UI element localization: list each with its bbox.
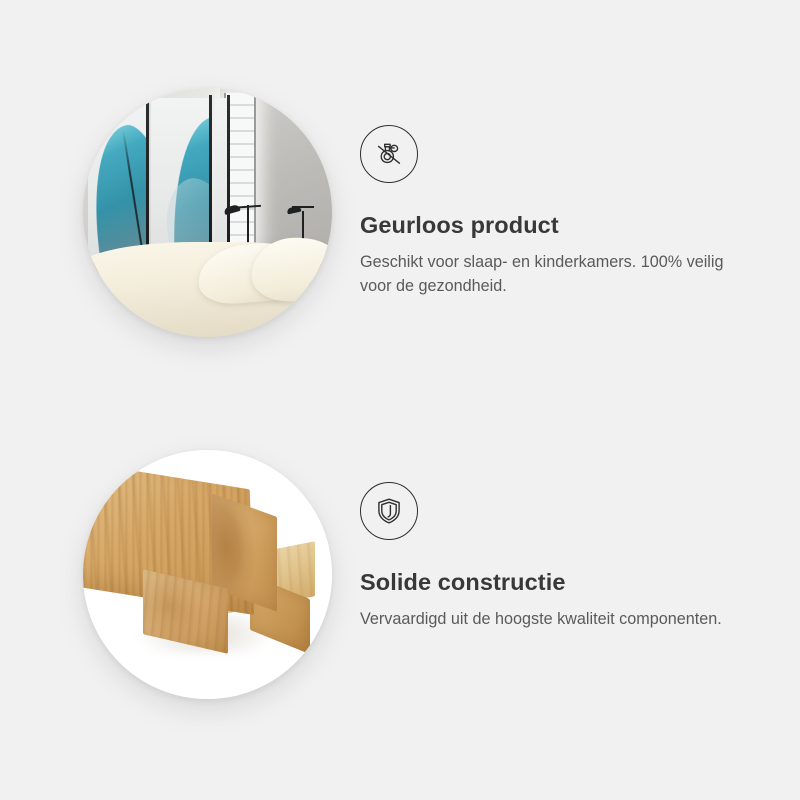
feature-description: Vervaardigd uit de hoogste kwaliteit com… (360, 608, 746, 631)
shield-icon (360, 482, 418, 540)
no-fragrance-perfume-bottle-icon (360, 125, 418, 183)
page-title: Geurloos product (360, 211, 760, 239)
feature-block-solide-constructie: Solide constructie Vervaardigd uit de ho… (0, 402, 800, 770)
feature-content: Geurloos product Geschikt voor slaap- en… (360, 125, 760, 298)
feature-block-geurloos-product: Geurloos product Geschikt voor slaap- en… (0, 40, 800, 408)
feature-image-wrapper (83, 450, 332, 699)
bedroom-with-teal-feather-wall-art-photo (83, 88, 332, 337)
page-title: Solide constructie (360, 568, 760, 596)
wood-scene (83, 450, 332, 699)
bedroom-scene (83, 88, 332, 337)
stacked-wooden-beams-photo (83, 450, 332, 699)
feature-description: Geschikt voor slaap- en kinderkamers. 10… (360, 251, 746, 298)
feature-content: Solide constructie Vervaardigd uit de ho… (360, 482, 760, 632)
product-features-page: Geurloos product Geschikt voor slaap- en… (0, 0, 800, 800)
feature-image-wrapper (83, 88, 332, 337)
art-panel-left (88, 98, 148, 267)
